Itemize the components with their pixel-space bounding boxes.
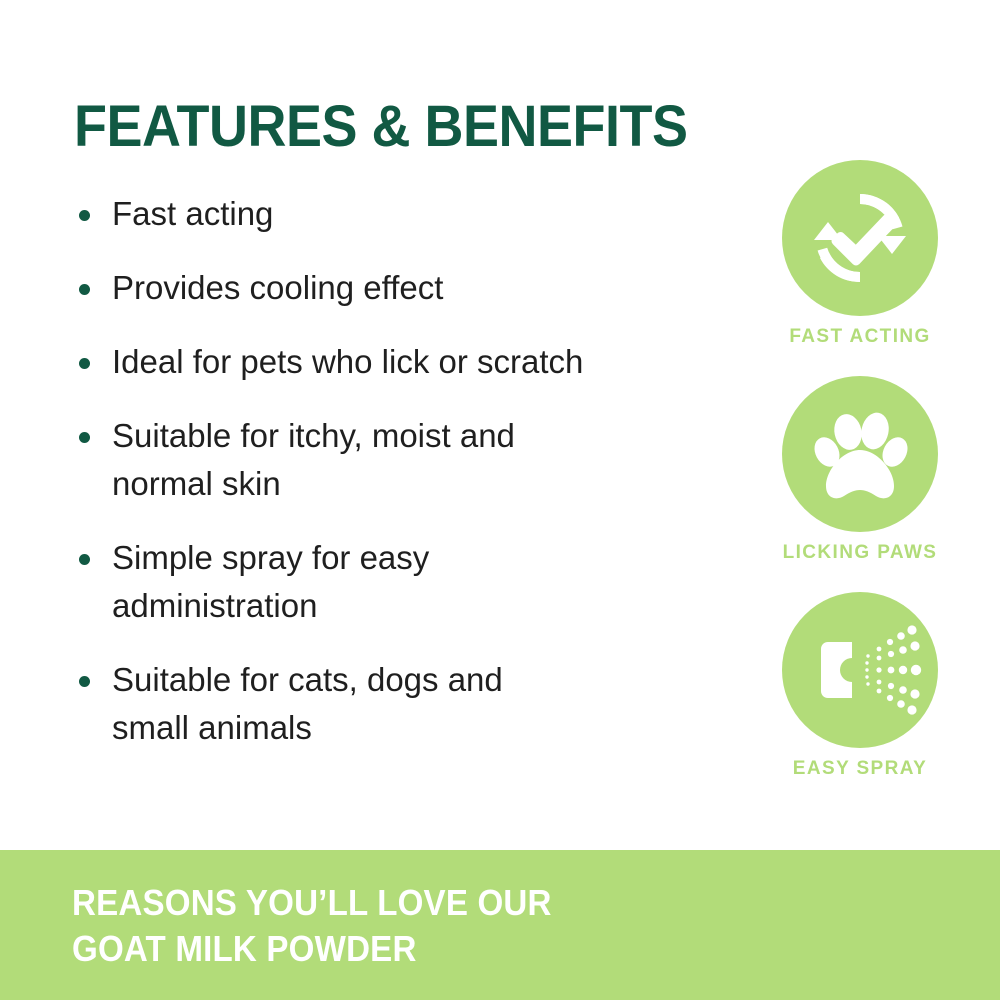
list-item-label: Simple spray for easy administration [112,534,754,630]
refresh-check-icon [782,160,938,316]
list-item-label: Suitable for cats, dogs and small animal… [112,656,754,752]
badge-circle [782,160,938,316]
list-item: Suitable for itchy, moist and normal ski… [74,412,754,508]
list-item: Ideal for pets who lick or scratch [74,338,754,386]
badge-label: LICKING PAWS [760,542,960,564]
badge-label: FAST ACTING [760,326,960,348]
list-item: Suitable for cats, dogs and small animal… [74,656,754,752]
list-item-label: Provides cooling effect [112,264,754,312]
bullet-dot-icon [79,676,90,687]
bullet-dot-icon [79,432,90,443]
banner-heading: REASONS YOU’LL LOVE OUR GOAT MILK POWDER [72,880,552,972]
bullet-dot-icon [79,284,90,295]
bullet-dot-icon [79,210,90,221]
paw-print-icon [782,376,938,532]
bullet-dot-icon [79,358,90,369]
list-item-label: Ideal for pets who lick or scratch [112,338,754,386]
list-item-label: Suitable for itchy, moist and normal ski… [112,412,754,508]
badge-fast-acting: FAST ACTING [760,160,960,348]
list-item: Fast acting [74,190,754,238]
badge-column: FAST ACTING LICKING PAWS [760,160,960,808]
badge-circle [782,592,938,748]
badge-label: EASY SPRAY [760,758,960,780]
bullet-dot-icon [79,554,90,565]
spray-nozzle-icon [782,592,938,748]
list-item: Provides cooling effect [74,264,754,312]
features-list: Fast acting Provides cooling effect Idea… [74,190,754,778]
page-title: FEATURES & BENEFITS [74,96,688,158]
list-item: Simple spray for easy administration [74,534,754,630]
bottom-banner: REASONS YOU’LL LOVE OUR GOAT MILK POWDER [0,850,1000,1000]
badge-easy-spray: EASY SPRAY [760,592,960,780]
list-item-label: Fast acting [112,190,754,238]
features-benefits-page: FEATURES & BENEFITS Fast acting Provides… [0,0,1000,1000]
badge-circle [782,376,938,532]
badge-licking-paws: LICKING PAWS [760,376,960,564]
